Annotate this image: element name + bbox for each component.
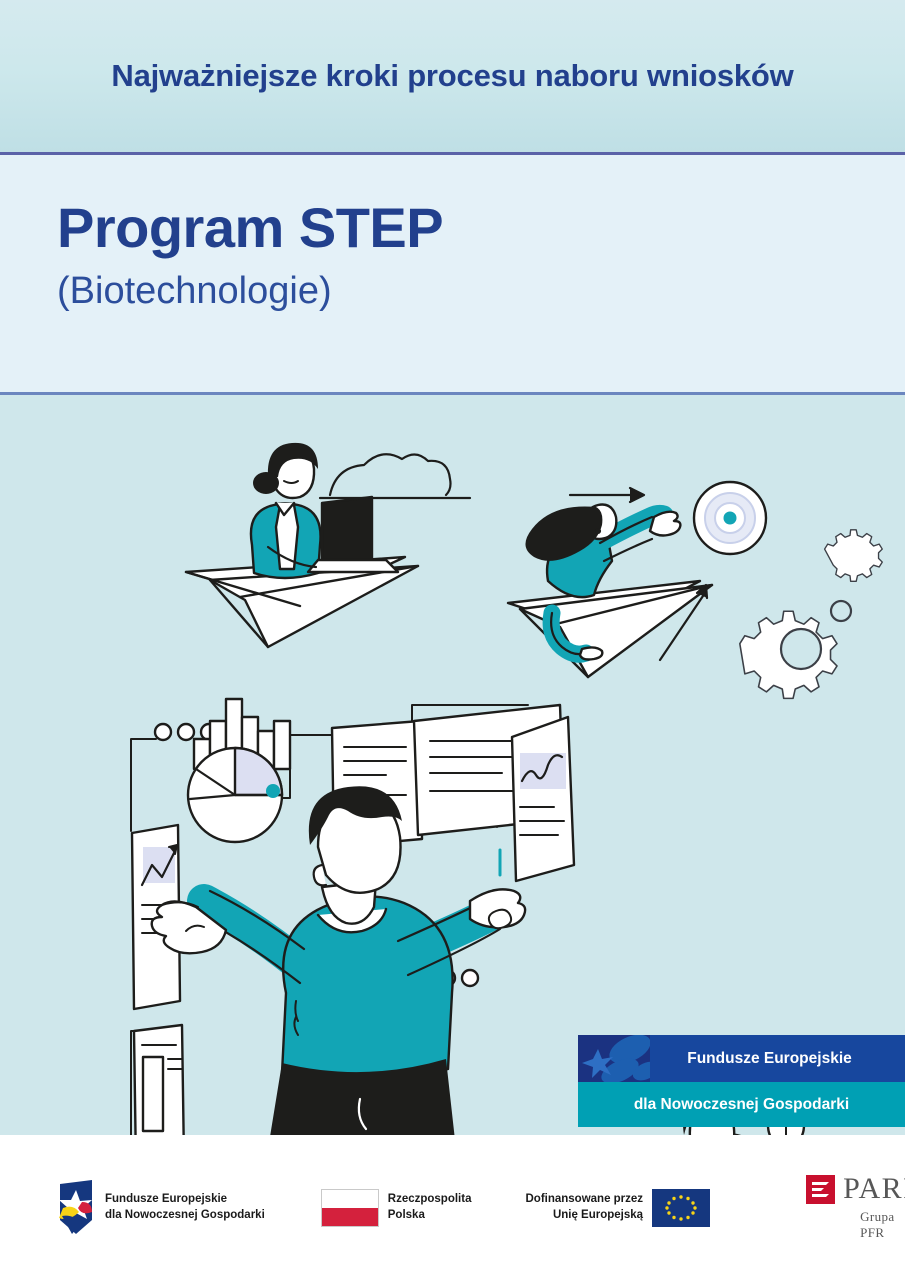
gears-icon [740,530,882,699]
fe-flag-icon [56,1180,96,1236]
pl-logo-line1: Rzeczpospolita [388,1192,472,1207]
pl-logo-text: Rzeczpospolita Polska [388,1192,472,1222]
target-icon [694,482,766,554]
report-document [134,1025,184,1135]
footer-logo-rzeczpospolita-polska: Rzeczpospolita Polska [321,1189,472,1227]
illustration-area [0,395,905,1135]
pl-logo-line2: Polska [388,1208,472,1223]
fe-logo-line1: Fundusze Europejskie [105,1192,265,1207]
eu-logo-text: Dofinansowane przez Unię Europejską [525,1192,643,1222]
page-title: Najważniejsze kroki procesu naboru wnios… [111,58,793,94]
header-band: Najważniejsze kroki procesu naboru wnios… [0,0,905,152]
cloud-icon [320,454,470,498]
dots-decoration-top [155,724,217,740]
document-with-chart-right [512,717,574,881]
fundusze-europejskie-badge: Fundusze Europejskie dla Nowoczesnej Gos… [578,1035,905,1127]
fe-badge-top-label: Fundusze Europejskie [650,1050,905,1068]
eu-logo-line2: Unię Europejską [525,1208,643,1223]
poster-root: Najważniejsze kroki procesu naboru wnios… [0,0,905,1280]
eu-logo-line1: Dofinansowane przez [525,1192,643,1207]
fe-logo-text: Fundusze Europejskie dla Nowoczesnej Gos… [105,1192,265,1222]
parp-mark-icon [806,1175,835,1204]
polish-flag-icon [321,1189,379,1227]
parp-subtitle: Grupa PFR [860,1209,905,1241]
footer-logo-fundusze-europejskie: Fundusze Europejskie dla Nowoczesnej Gos… [56,1180,265,1236]
fe-badge-top-row: Fundusze Europejskie [578,1035,905,1082]
illustration-svg [0,395,905,1135]
footer-logo-unia-europejska: Dofinansowane przez Unię Europejską [525,1189,710,1227]
title-band: Program STEP (Biotechnologie) [0,155,905,392]
program-title: Program STEP [57,195,443,260]
footer-logo-parp: PARP Grupa PFR [806,1174,905,1241]
program-subtitle: (Biotechnologie) [57,270,332,313]
arrow-right-icon [570,488,644,502]
eu-flag-icon [652,1189,710,1227]
fe-badge-bottom-label: dla Nowoczesnej Gospodarki [578,1082,905,1127]
fe-logo-line2: dla Nowoczesnej Gospodarki [105,1208,265,1223]
parp-wordmark: PARP [843,1174,905,1204]
parp-row: PARP [806,1174,905,1204]
fe-badge-star-graphic [578,1035,650,1082]
footer-logo-bar: Fundusze Europejskie dla Nowoczesnej Gos… [0,1135,905,1280]
